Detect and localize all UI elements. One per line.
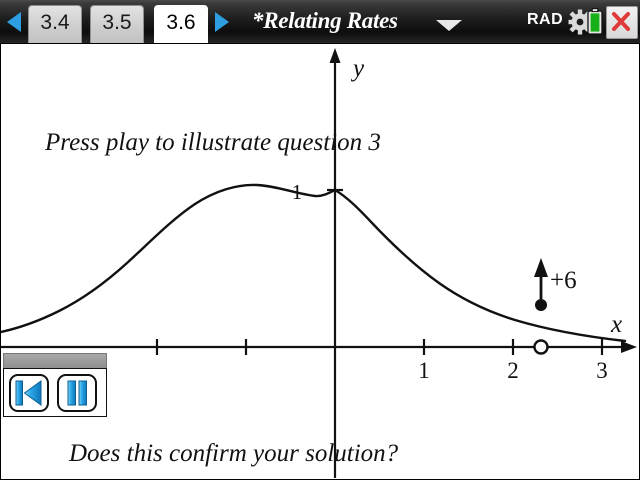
y-axis-label: y (350, 55, 365, 82)
nav-right-arrow-icon[interactable] (215, 12, 229, 32)
graph-workspace[interactable]: y 1 x 1 2 3 (0, 44, 640, 480)
calculator-screen: 3.4 3.5 3.6 *Relating Rates RAD (0, 0, 640, 480)
tab-3-5[interactable]: 3.5 (90, 5, 144, 43)
curve (1, 185, 625, 341)
animation-panel-drag-handle[interactable] (3, 353, 107, 369)
animation-panel-body (3, 368, 107, 417)
gear-battery-status[interactable] (568, 7, 604, 37)
x-axis-arrowhead (621, 341, 637, 353)
x-tick-label-1: 1 (418, 358, 430, 383)
skip-to-start-icon (11, 376, 47, 410)
x-tick-label-3: 3 (596, 358, 608, 383)
tab-3-4[interactable]: 3.4 (28, 5, 82, 43)
instruction-text-top: Press play to illustrate question 3 (45, 129, 381, 157)
rate-arrow-label: +6 (550, 267, 577, 294)
title-bar: 3.4 3.5 3.6 *Relating Rates RAD (0, 0, 640, 44)
close-icon[interactable] (606, 6, 638, 39)
x-axis-label: x (610, 311, 622, 338)
x-axis-open-point (535, 341, 548, 354)
document-title: *Relating Rates (252, 8, 398, 34)
reset-button[interactable] (9, 374, 49, 412)
tab-3-6[interactable]: 3.6 (154, 5, 208, 43)
chevron-down-icon[interactable] (436, 20, 462, 31)
instruction-text-bottom: Does this confirm your solution? (69, 440, 398, 468)
animation-control-panel[interactable] (3, 353, 107, 417)
angle-mode-indicator: RAD (527, 11, 563, 29)
x-tick-label-2: 2 (507, 358, 519, 383)
battery-icon (588, 9, 602, 34)
pause-button[interactable] (57, 374, 97, 412)
pause-icon (59, 376, 95, 410)
y-axis-arrowhead (330, 48, 341, 63)
rate-arrow-head (534, 258, 548, 277)
nav-left-arrow-icon[interactable] (7, 12, 21, 32)
